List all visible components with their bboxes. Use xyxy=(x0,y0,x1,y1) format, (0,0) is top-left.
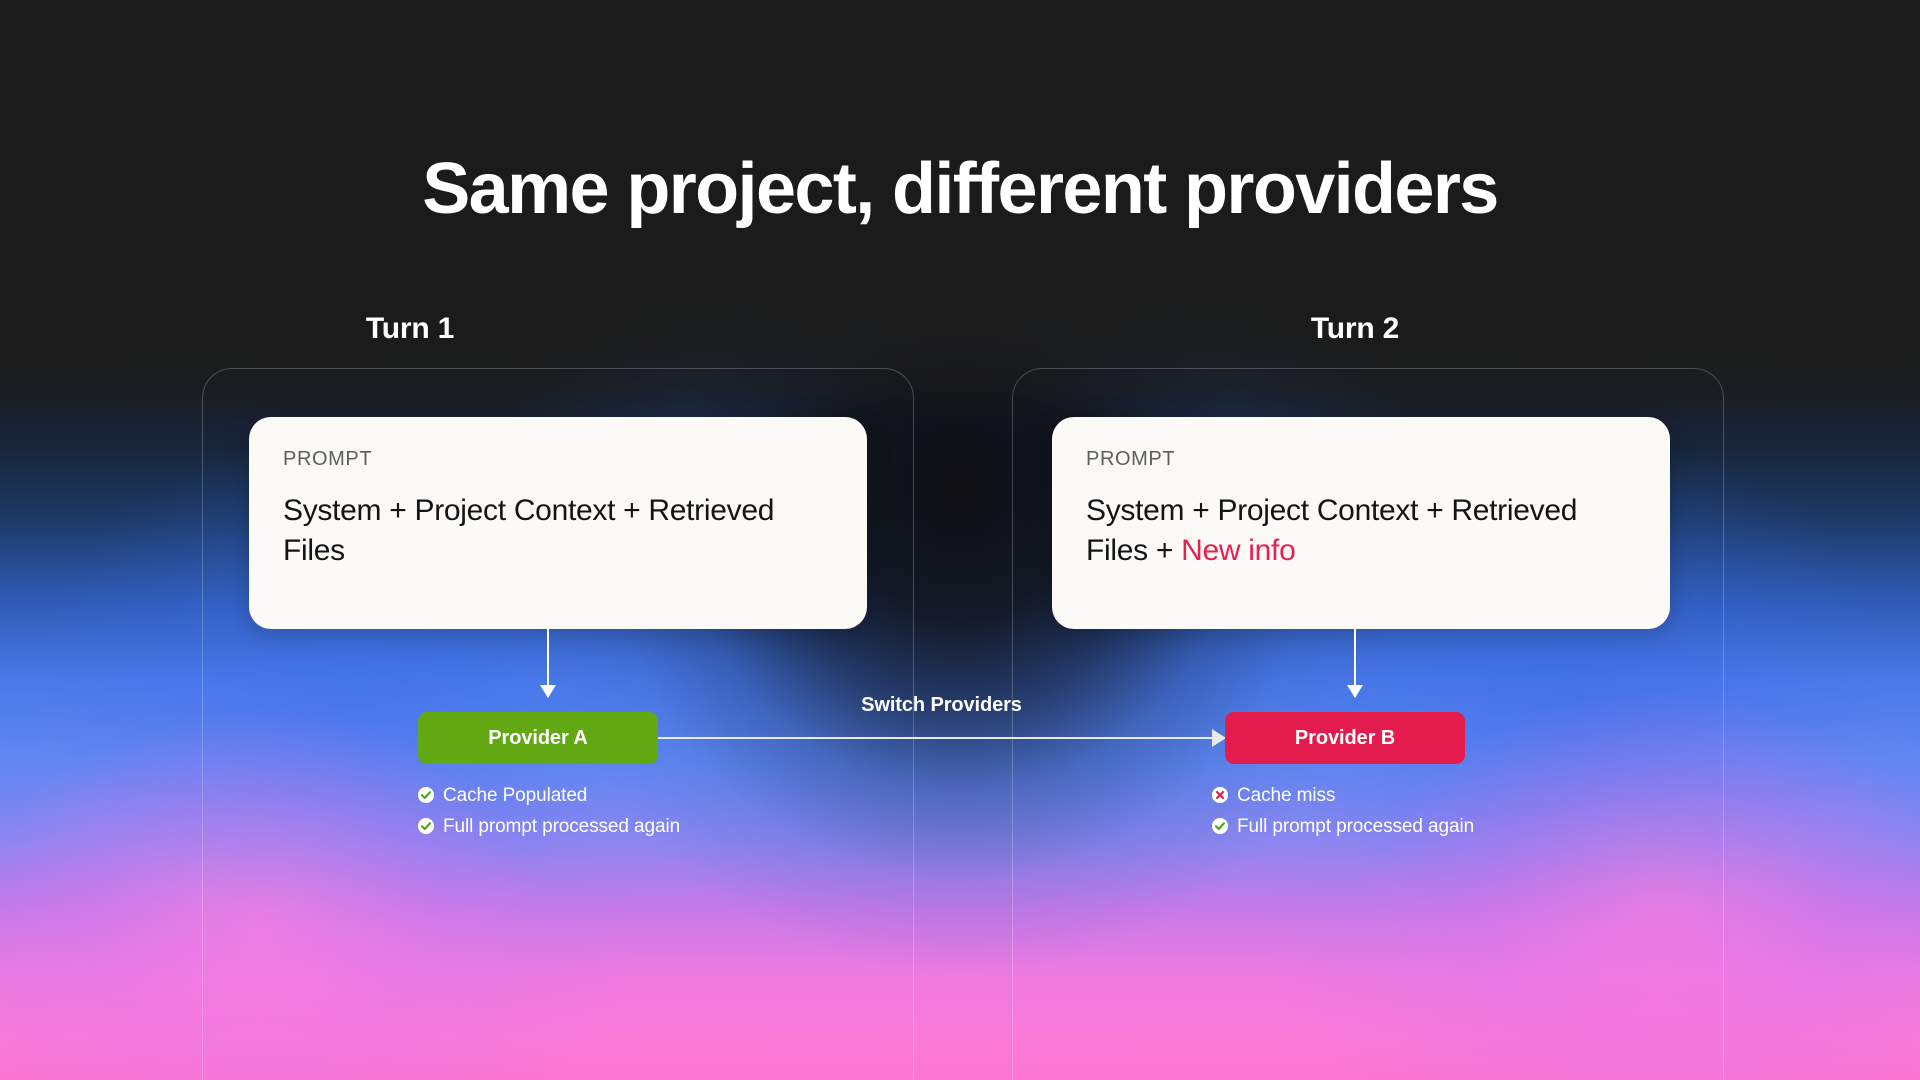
status-row: Full prompt processed again xyxy=(418,813,680,839)
arrow-head-down-icon xyxy=(540,685,556,698)
status-row: Cache miss xyxy=(1212,782,1474,808)
status-label: Cache miss xyxy=(1237,786,1335,805)
check-circle-icon xyxy=(418,787,434,803)
x-circle-icon xyxy=(1212,787,1228,803)
prompt-kicker-2: PROMPT xyxy=(1086,449,1636,469)
page-title: Same project, different providers xyxy=(0,152,1920,228)
arrow-line xyxy=(658,737,1225,739)
arrow-head-right-icon xyxy=(1212,729,1226,747)
prompt-kicker-1: PROMPT xyxy=(283,449,833,469)
prompt-text-2: System + Project Context + Retrieved Fil… xyxy=(1086,494,1577,567)
provider-a-label: Provider A xyxy=(488,727,587,750)
status-label: Full prompt processed again xyxy=(1237,817,1474,836)
slide-canvas: Same project, different providers Turn 1… xyxy=(0,0,1920,1080)
status-row: Full prompt processed again xyxy=(1212,813,1474,839)
status-list-1: Cache Populated Full prompt processed ag… xyxy=(418,782,680,844)
arrow-head-down-icon xyxy=(1347,685,1363,698)
prompt-body-2: System + Project Context + Retrieved Fil… xyxy=(1086,491,1636,570)
switch-providers-label: Switch Providers xyxy=(658,694,1225,717)
prompt-card-2: PROMPT System + Project Context + Retrie… xyxy=(1052,417,1670,629)
prompt-to-provider-arrow-2 xyxy=(1345,629,1365,697)
provider-b-label: Provider B xyxy=(1295,727,1395,750)
prompt-text-1: System + Project Context + Retrieved Fil… xyxy=(283,494,774,567)
arrow-stem xyxy=(1354,629,1356,697)
status-list-2: Cache miss Full prompt processed again xyxy=(1212,782,1474,844)
slide-content: Same project, different providers Turn 1… xyxy=(0,0,1920,1080)
prompt-body-1: System + Project Context + Retrieved Fil… xyxy=(283,491,833,570)
provider-a-button[interactable]: Provider A xyxy=(418,712,658,764)
check-circle-icon xyxy=(418,818,434,834)
provider-b-button[interactable]: Provider B xyxy=(1225,712,1465,764)
status-row: Cache Populated xyxy=(418,782,680,808)
prompt-card-1: PROMPT System + Project Context + Retrie… xyxy=(249,417,867,629)
turn-label-2: Turn 2 xyxy=(1215,312,1495,346)
status-label: Full prompt processed again xyxy=(443,817,680,836)
check-circle-icon xyxy=(1212,818,1228,834)
switch-providers-connector: Switch Providers xyxy=(658,700,1225,764)
prompt-to-provider-arrow-1 xyxy=(538,629,558,697)
arrow-stem xyxy=(547,629,549,697)
prompt-accent-2: New info xyxy=(1181,534,1295,567)
turn-label-1: Turn 1 xyxy=(270,312,550,346)
status-label: Cache Populated xyxy=(443,786,587,805)
